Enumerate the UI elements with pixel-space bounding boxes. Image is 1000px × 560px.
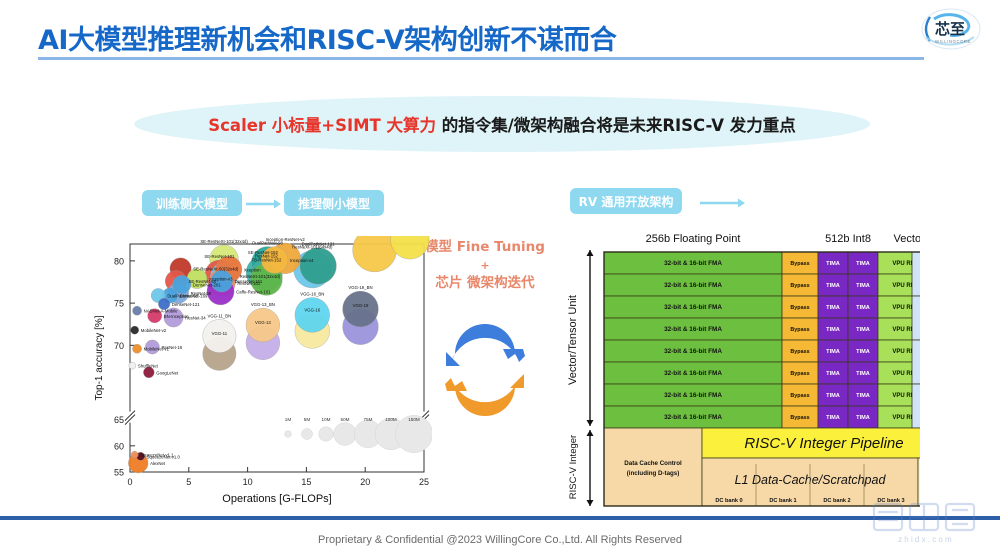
- svg-text:5M: 5M: [304, 417, 311, 422]
- svg-text:512b Int8: 512b Int8: [825, 233, 871, 245]
- subtitle-highlight: Scaler 小标量+SIMT 大算力: [208, 116, 436, 135]
- svg-text:32-bit & 16-bit FMA: 32-bit & 16-bit FMA: [664, 304, 722, 311]
- svg-text:Bypass: Bypass: [790, 349, 809, 355]
- svg-text:DC bank 1: DC bank 1: [769, 498, 796, 504]
- svg-text:SE-ResNet-152: SE-ResNet-152: [248, 250, 279, 255]
- svg-text:100M: 100M: [385, 417, 397, 422]
- svg-text:60: 60: [114, 441, 124, 451]
- svg-text:RISC-V Integer: RISC-V Integer: [568, 435, 579, 499]
- svg-text:10M: 10M: [322, 417, 331, 422]
- watermark-url: zhidx.com: [898, 535, 954, 544]
- svg-text:50M: 50M: [341, 417, 350, 422]
- svg-text:80: 80: [114, 256, 124, 266]
- svg-text:15: 15: [301, 477, 311, 487]
- svg-text:32-bit & 16-bit FMA: 32-bit & 16-bit FMA: [664, 326, 722, 333]
- svg-text:TIMA: TIMA: [826, 349, 840, 355]
- cycle-line-3: 芯片 微架构迭代: [420, 274, 550, 294]
- svg-text:FB-ResNet-152: FB-ResNet-152: [251, 258, 281, 263]
- svg-text:Top-1 accuracy [%]: Top-1 accuracy [%]: [94, 315, 105, 400]
- cycle-caption: 模型 Fine Tuning + 芯片 微架构迭代: [420, 238, 550, 293]
- svg-text:VGG-13_BN: VGG-13_BN: [251, 302, 275, 307]
- svg-text:MobileNet-v2: MobileNet-v2: [141, 328, 167, 333]
- svg-text:TIMA: TIMA: [826, 415, 840, 421]
- svg-text:32-bit & 16-bit FMA: 32-bit & 16-bit FMA: [664, 260, 722, 267]
- svg-text:Vector/Tensor Unit: Vector/Tensor Unit: [567, 295, 579, 385]
- svg-text:ResNet-50: ResNet-50: [191, 291, 212, 296]
- svg-text:DC bank 2: DC bank 2: [823, 498, 850, 504]
- svg-text:32-bit & 16-bit FMA: 32-bit & 16-bit FMA: [664, 392, 722, 399]
- svg-text:Bypass: Bypass: [790, 305, 809, 311]
- svg-text:AlexNet: AlexNet: [150, 461, 166, 466]
- svg-text:VGG-16: VGG-16: [304, 308, 320, 313]
- svg-text:Bypass: Bypass: [790, 371, 809, 377]
- svg-text:256b Floating Point: 256b Floating Point: [646, 233, 741, 245]
- svg-text:ShuffleNet: ShuffleNet: [138, 364, 159, 369]
- svg-text:TIMA: TIMA: [856, 349, 870, 355]
- svg-text:Bypass: Bypass: [790, 283, 809, 289]
- svg-text:SE-ResNeXt-50(32x4d): SE-ResNeXt-50(32x4d): [193, 266, 239, 271]
- svg-text:32-bit & 16-bit FMA: 32-bit & 16-bit FMA: [664, 282, 722, 289]
- cycle-line-1: 模型 Fine Tuning: [420, 238, 550, 258]
- svg-text:TIMA: TIMA: [826, 371, 840, 377]
- svg-text:TIMA: TIMA: [826, 283, 840, 289]
- title-divider: [38, 57, 924, 60]
- svg-text:ResNeXt-101(32x4d): ResNeXt-101(32x4d): [240, 274, 281, 279]
- svg-text:TIMA: TIMA: [856, 393, 870, 399]
- svg-text:VGG-11: VGG-11: [212, 331, 228, 336]
- svg-text:VGG-13: VGG-13: [255, 320, 271, 325]
- svg-text:TIMA: TIMA: [856, 371, 870, 377]
- svg-text:TIMA: TIMA: [856, 283, 870, 289]
- svg-text:ResNet-101: ResNet-101: [237, 281, 261, 286]
- zhidx-watermark: zhidx.com: [866, 498, 986, 548]
- svg-text:Vector RF: Vector RF: [894, 233, 920, 245]
- svg-text:1M: 1M: [285, 417, 292, 422]
- svg-text:TIMA: TIMA: [826, 327, 840, 333]
- svg-text:TIMA: TIMA: [826, 393, 840, 399]
- svg-text:芯至: 芯至: [935, 20, 965, 38]
- svg-text:VGG-16_BN: VGG-16_BN: [300, 292, 324, 297]
- svg-text:ResNet-18: ResNet-18: [161, 345, 182, 350]
- svg-text:VGG-19_BN: VGG-19_BN: [348, 285, 372, 290]
- svg-text:32-bit & 16-bit FMA: 32-bit & 16-bit FMA: [664, 348, 722, 355]
- footer-divider: [0, 516, 1000, 520]
- arrow-rv-to-arch-icon: [700, 196, 746, 208]
- svg-text:75M: 75M: [364, 417, 373, 422]
- svg-text:10: 10: [243, 477, 253, 487]
- svg-text:0: 0: [127, 477, 132, 487]
- svg-text:65: 65: [114, 415, 124, 425]
- svg-text:Bypass: Bypass: [790, 393, 809, 399]
- svg-text:Bypass: Bypass: [790, 261, 809, 267]
- subtitle-rest: 的指令集/微架构融合将是未来RISC-V 发力重点: [436, 116, 796, 135]
- svg-text:WILLINGCORE: WILLINGCORE: [935, 39, 971, 44]
- svg-text:SE-ResNet-101: SE-ResNet-101: [204, 254, 235, 259]
- svg-text:Caffe-ResNet-101: Caffe-ResNet-101: [236, 289, 271, 294]
- page-title: AI大模型推理新机会和RISC-V架构创新不谋而合: [38, 18, 616, 57]
- svg-text:DualPathNet-98: DualPathNet-98: [252, 241, 283, 246]
- svg-text:20: 20: [360, 477, 370, 487]
- svg-text:SE-ResNet-50: SE-ResNet-50: [189, 279, 217, 284]
- svg-text:DenseNet-121: DenseNet-121: [172, 302, 200, 307]
- svg-text:32-bit & 16-bit FMA: 32-bit & 16-bit FMA: [664, 414, 722, 421]
- svg-text:TIMA: TIMA: [856, 305, 870, 311]
- svg-text:(including D-tags): (including D-tags): [627, 470, 680, 477]
- cycle-line-2: +: [420, 258, 550, 274]
- svg-text:RISC-V Integer Pipeline: RISC-V Integer Pipeline: [744, 435, 903, 452]
- svg-text:TIMA: TIMA: [856, 261, 870, 267]
- svg-text:75: 75: [114, 299, 124, 309]
- svg-text:55: 55: [114, 468, 124, 478]
- refresh-cycle-icon: [437, 322, 533, 418]
- svg-text:150M: 150M: [408, 417, 420, 422]
- svg-text:TIMA: TIMA: [826, 261, 840, 267]
- svg-text:ResNet-34: ResNet-34: [185, 315, 206, 320]
- pill-inference-small-model[interactable]: 推理侧小模型: [284, 190, 384, 216]
- svg-text:Data Cache Control: Data Cache Control: [624, 460, 682, 467]
- svg-text:ResNeXt-101(64x4d): ResNeXt-101(64x4d): [292, 245, 333, 250]
- arrow-train-to-infer-icon: [246, 197, 282, 209]
- svg-text:SE-ResNeXt-101(32x4d): SE-ResNeXt-101(32x4d): [200, 239, 248, 244]
- svg-text:GoogLeNet: GoogLeNet: [156, 370, 179, 375]
- svg-text:25: 25: [419, 477, 429, 487]
- svg-text:32-bit & 16-bit FMA: 32-bit & 16-bit FMA: [664, 370, 722, 377]
- svg-text:TIMA: TIMA: [826, 305, 840, 311]
- company-logo: 芯至 WILLINGCORE: [920, 7, 982, 51]
- svg-text:TIMA: TIMA: [856, 415, 870, 421]
- svg-text:VGG-11_BN: VGG-11_BN: [207, 313, 231, 318]
- svg-text:DC bank 0: DC bank 0: [715, 498, 742, 504]
- svg-text:VGG-19: VGG-19: [353, 303, 369, 308]
- svg-text:Inception-v4: Inception-v4: [290, 258, 314, 263]
- pill-rv-open-architecture[interactable]: RV 通用开放架构: [570, 188, 682, 214]
- subtitle-banner: Scaler 小标量+SIMT 大算力 的指令集/微架构融合将是未来RISC-V…: [134, 96, 870, 152]
- svg-text:Xception: Xception: [244, 267, 261, 272]
- subtitle-text: Scaler 小标量+SIMT 大算力 的指令集/微架构融合将是未来RISC-V…: [208, 112, 795, 136]
- pill-training-large-model[interactable]: 训练侧大模型: [142, 190, 242, 216]
- svg-text:TIMA: TIMA: [856, 327, 870, 333]
- svg-text:5: 5: [186, 477, 191, 487]
- slide-root: AI大模型推理新机会和RISC-V架构创新不谋而合 芯至 WILLINGCORE…: [0, 0, 1000, 560]
- svg-text:Bypass: Bypass: [790, 327, 809, 333]
- svg-text:70: 70: [114, 341, 124, 351]
- footer-copyright: Proprietary & Confidential @2023 Willing…: [0, 534, 1000, 546]
- svg-text:Operations [G-FLOPs]: Operations [G-FLOPs]: [222, 493, 331, 505]
- model-accuracy-scatter-chart: 5560657075800510152025Operations [G-FLOP…: [92, 236, 432, 518]
- risc-v-architecture-diagram: 256b Floating Point512b Int8Vector RF32-…: [552, 222, 920, 512]
- svg-text:SqueezeNet-v1.0: SqueezeNet-v1.0: [147, 454, 181, 459]
- svg-text:Bypass: Bypass: [790, 415, 809, 421]
